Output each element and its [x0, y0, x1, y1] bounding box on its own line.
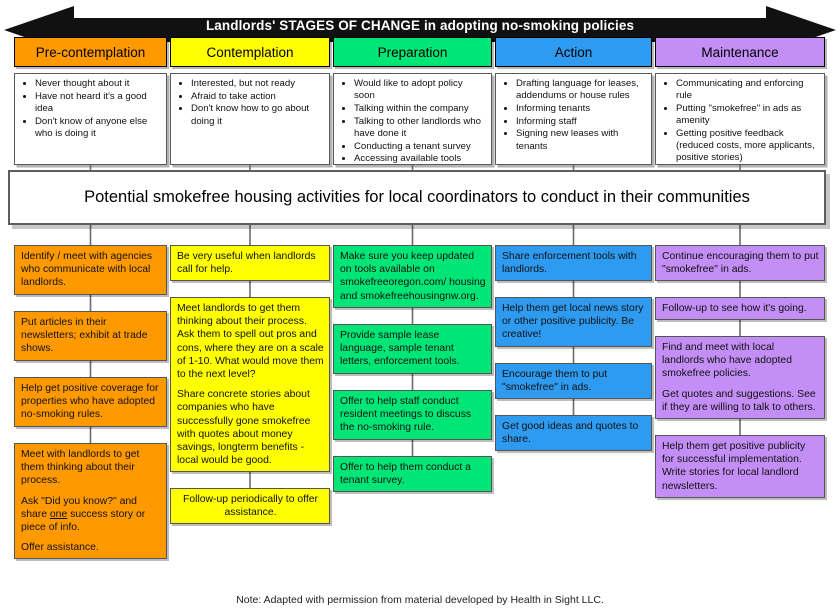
activity-box[interactable]: Help them get local news story or other …: [495, 297, 652, 347]
activity-text: Help get positive coverage for propertie…: [21, 382, 161, 422]
activity-text: Help them get positive publicity for suc…: [662, 440, 819, 493]
activity-text: Offer to help them conduct a tenant surv…: [340, 461, 486, 487]
activity-box[interactable]: Encourage them to put "smokefree" in ads…: [495, 363, 652, 399]
activity-box[interactable]: Get good ideas and quotes to share.: [495, 415, 652, 451]
activity-box[interactable]: Help get positive coverage for propertie…: [14, 377, 167, 427]
activity-text: Help them get local news story or other …: [502, 302, 646, 342]
activity-text: Offer assistance.: [21, 541, 161, 554]
activity-box[interactable]: Follow-up to see how it's going.: [655, 297, 825, 320]
activity-text: Find and meet with local landlords who h…: [662, 341, 819, 381]
activity-text: Make sure you keep updated on tools avai…: [340, 250, 486, 303]
activity-box[interactable]: Meet landlords to get them thinking abou…: [170, 297, 330, 472]
activity-box[interactable]: Offer to help staff conduct resident mee…: [333, 390, 492, 440]
activity-text: Identify / meet with agencies who commun…: [21, 250, 161, 290]
activity-box[interactable]: Put articles in their newsletters; exhib…: [14, 311, 167, 361]
activity-text: Get quotes and suggestions. See if they …: [662, 388, 819, 414]
activity-text: Be very useful when landlords call for h…: [177, 250, 324, 276]
activity-box[interactable]: Find and meet with local landlords who h…: [655, 336, 825, 419]
footer-note: Note: Adapted with permission from mater…: [0, 594, 840, 606]
activity-text: Encourage them to put "smokefree" in ads…: [502, 368, 646, 394]
activity-box[interactable]: Offer to help them conduct a tenant surv…: [333, 456, 492, 492]
activity-text: Continue encouraging them to put "smokef…: [662, 250, 819, 276]
activity-box[interactable]: Meet with landlords to get them thinking…: [14, 443, 167, 559]
activity-box[interactable]: Identify / meet with agencies who commun…: [14, 245, 167, 295]
activity-text: Meet with landlords to get them thinking…: [21, 448, 161, 488]
stages-of-change-diagram: Landlords' STAGES OF CHANGE in adopting …: [0, 0, 840, 613]
activity-text: Meet landlords to get them thinking abou…: [177, 302, 324, 381]
activity-box[interactable]: Provide sample lease language, sample te…: [333, 324, 492, 374]
activity-text: Follow-up periodically to offer assistan…: [177, 493, 324, 519]
activity-columns: Identify / meet with agencies who commun…: [0, 0, 840, 613]
activity-text: Share concrete stories about companies w…: [177, 388, 324, 467]
activity-box[interactable]: Make sure you keep updated on tools avai…: [333, 245, 492, 308]
activity-text: Share enforcement tools with landlords.: [502, 250, 646, 276]
activity-box[interactable]: Continue encouraging them to put "smokef…: [655, 245, 825, 281]
activity-text: Get good ideas and quotes to share.: [502, 420, 646, 446]
activity-box[interactable]: Be very useful when landlords call for h…: [170, 245, 330, 281]
activity-text: Provide sample lease language, sample te…: [340, 329, 486, 369]
activity-box[interactable]: Share enforcement tools with landlords.: [495, 245, 652, 281]
activity-box[interactable]: Follow-up periodically to offer assistan…: [170, 488, 330, 524]
activity-text: Offer to help staff conduct resident mee…: [340, 395, 486, 435]
activity-text: Put articles in their newsletters; exhib…: [21, 316, 161, 356]
activity-text: Ask "Did you know?" and share one succes…: [21, 495, 161, 535]
activity-text: Follow-up to see how it's going.: [662, 302, 819, 315]
activity-box[interactable]: Help them get positive publicity for suc…: [655, 435, 825, 498]
